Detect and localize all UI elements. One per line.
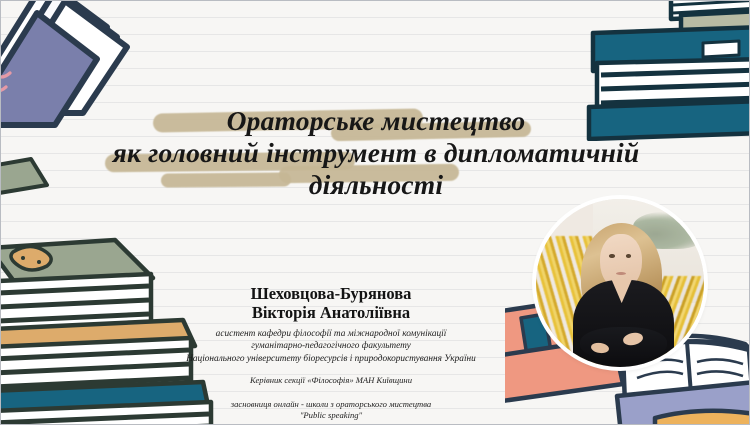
speaker-surname: Шеховцова-Бурянова: [121, 284, 541, 303]
speaker-name: Шеховцова-Бурянова Вікторія Анатоліївна: [121, 284, 541, 322]
mid-left-small-book-illustration: [0, 151, 51, 211]
speaker-portrait-photo: [536, 199, 704, 367]
photo-eye-left: [609, 254, 615, 258]
speaker-given-name: Вікторія Анатоліївна: [121, 303, 541, 322]
presentation-slide: Ораторське мистецтво як головний інструм…: [0, 0, 750, 425]
founder-line-2: "Public speaking": [121, 410, 541, 421]
founder-line-1: засновниця онлайн - школи з ораторського…: [121, 399, 541, 410]
speaker-founder-note: засновниця онлайн - школи з ораторського…: [121, 399, 541, 421]
title-line-3: діяльності: [61, 169, 691, 201]
speaker-role: Керівник секції «Філософія» МАН Київщини: [121, 375, 541, 386]
title-line-2: як головний інструмент в дипломатичній: [61, 137, 691, 169]
slide-title: Ораторське мистецтво як головний інструм…: [61, 105, 691, 201]
affiliation-line-2: гуманітарно-педагогічного факультету: [121, 340, 541, 352]
title-line-1: Ораторське мистецтво: [61, 105, 691, 137]
affiliation-line-1: асистент кафедри філософії та міжнародно…: [121, 328, 541, 340]
affiliation-line-3: Національного університету біоресурсів і…: [121, 353, 541, 365]
speaker-affiliation: асистент кафедри філософії та міжнародно…: [121, 328, 541, 365]
